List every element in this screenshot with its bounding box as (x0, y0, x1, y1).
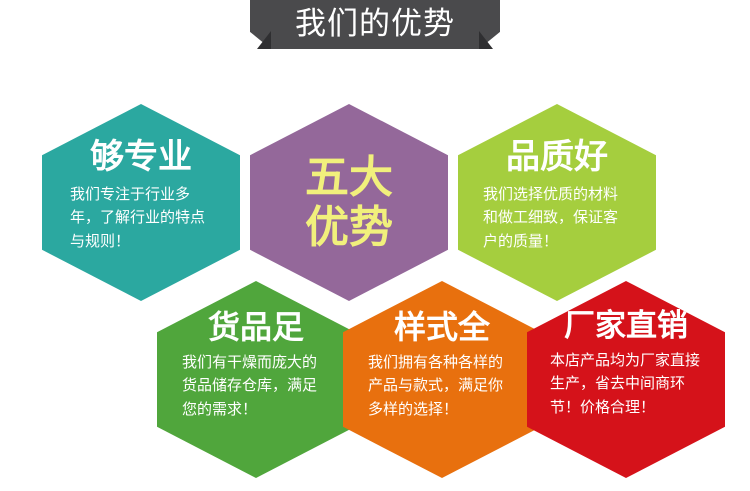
advantage-hexagon-styles[interactable]: 样式全 我们拥有各种各样的产品与款式，满足你多样的选择！ (343, 281, 541, 478)
advantage-hexagon-stock[interactable]: 货品足 我们有干燥而庞大的货品储存仓库，满足您的需求！ (157, 281, 355, 478)
header-ribbon: 我们的优势 (271, 0, 479, 49)
center-hexagon-five-advantages[interactable]: 五大 优势 (250, 104, 448, 301)
advantage-title: 货品足 (208, 311, 304, 343)
advantage-title: 品质好 (506, 140, 608, 174)
advantage-hexagon-professional[interactable]: 够专业 我们专注于行业多年，了解行业的特点与规则！ (42, 104, 240, 301)
advantage-hexagon-quality[interactable]: 品质好 我们选择优质的材料和做工细致，保证客户的质量！ (458, 104, 656, 301)
page-title: 我们的优势 (271, 0, 479, 49)
center-title-line1: 五大 (305, 153, 393, 202)
advantage-body: 我们选择优质的材料和做工细致，保证客户的质量！ (483, 183, 631, 253)
advantage-body: 我们拥有各种各样的产品与款式，满足你多样的选择！ (368, 351, 516, 421)
advantage-body: 我们专注于行业多年，了解行业的特点与规则！ (70, 183, 212, 253)
infographic-canvas: 我们的优势 够专业 我们专注于行业多年，了解行业的特点与规则！ 五大 优势 品质… (0, 0, 750, 491)
advantage-title: 样式全 (394, 311, 490, 343)
advantage-body: 本店产品均为厂家直接生产，省去中间商环节！价格合理！ (550, 349, 702, 419)
advantage-title: 够专业 (90, 140, 192, 174)
advantage-title: 厂家直销 (564, 311, 688, 342)
center-title-line2: 优势 (305, 203, 393, 252)
advantage-hexagon-factory-direct[interactable]: 厂家直销 本店产品均为厂家直接生产，省去中间商环节！价格合理！ (527, 281, 725, 478)
advantage-body: 我们有干燥而庞大的货品储存仓库，满足您的需求！ (182, 351, 330, 421)
